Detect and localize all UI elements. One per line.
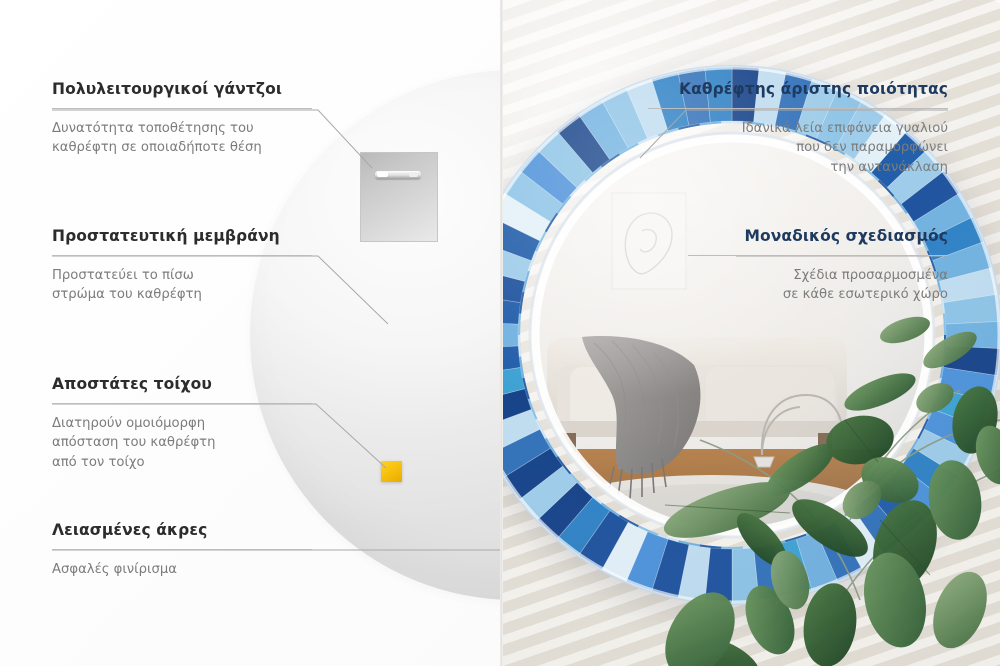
yellow-wall-spacer bbox=[381, 461, 402, 482]
feature-title: Λειασμένες άκρες bbox=[52, 521, 312, 540]
feature-title: Πολυλειτουργικοί γάντζοι bbox=[52, 80, 312, 99]
desc-line: από τον τοίχο bbox=[52, 453, 312, 473]
desc-line: που δεν παραμορφώνει bbox=[648, 138, 948, 158]
feature-title: Καθρέφτης άριστης ποιότητας bbox=[648, 80, 948, 99]
hook-icon bbox=[375, 171, 421, 179]
feature-description: Σχέδια προσαρμοσμένα σε κάθε εσωτερικό χ… bbox=[688, 266, 948, 306]
desc-line: στρώμα του καθρέφτη bbox=[52, 285, 312, 305]
feature-description: Προστατεύει το πίσω στρώμα του καθρέφτη bbox=[52, 266, 312, 306]
desc-line: καθρέφτη σε οποιαδήποτε θέση bbox=[52, 138, 312, 158]
feature-protective-membrane: Προστατευτική μεμβράνη Προστατεύει το πί… bbox=[52, 227, 312, 305]
title-rule bbox=[52, 549, 312, 550]
feature-top-quality-mirror: Καθρέφτης άριστης ποιότητας Ιδανικά λεία… bbox=[648, 80, 948, 178]
half-divider bbox=[500, 0, 503, 666]
desc-line: Δυνατότητα τοποθέτησης του bbox=[52, 119, 312, 139]
feature-description: Διατηρούν ομοιόμορφη απόσταση του καθρέφ… bbox=[52, 414, 312, 473]
wall-hook-plate bbox=[360, 152, 438, 242]
desc-line: την αντανάκλαση bbox=[648, 158, 948, 178]
desc-line: Ασφαλές φινίρισμα bbox=[52, 560, 312, 580]
feature-title: Αποστάτες τοίχου bbox=[52, 375, 312, 394]
desc-line: Προστατεύει το πίσω bbox=[52, 266, 312, 286]
feature-title: Προστατευτική μεμβράνη bbox=[52, 227, 312, 246]
desc-line: Σχέδια προσαρμοσμένα bbox=[688, 266, 948, 286]
feature-title: Μοναδικός σχεδιασμός bbox=[688, 227, 948, 246]
feature-multifunctional-hooks: Πολυλειτουργικοί γάντζοι Δυνατότητα τοπο… bbox=[52, 80, 312, 158]
infographic-stage: Πολυλειτουργικοί γάντζοι Δυνατότητα τοπο… bbox=[0, 0, 1000, 666]
feature-unique-design: Μοναδικός σχεδιασμός Σχέδια προσαρμοσμέν… bbox=[688, 227, 948, 305]
title-rule bbox=[52, 108, 312, 109]
title-rule bbox=[688, 255, 948, 256]
feature-polished-edges: Λειασμένες άκρες Ασφαλές φινίρισμα bbox=[52, 521, 312, 579]
desc-line: Διατηρούν ομοιόμορφη bbox=[52, 414, 312, 434]
desc-line: Ιδανικά λεία επιφάνεια γυαλιού bbox=[648, 119, 948, 139]
feature-description: Ασφαλές φινίρισμα bbox=[52, 560, 312, 580]
title-rule bbox=[648, 108, 948, 109]
desc-line: σε κάθε εσωτερικό χώρο bbox=[688, 285, 948, 305]
title-rule bbox=[52, 255, 312, 256]
feature-wall-spacers: Αποστάτες τοίχου Διατηρούν ομοιόμορφη απ… bbox=[52, 375, 312, 473]
desc-line: απόσταση του καθρέφτη bbox=[52, 433, 312, 453]
title-rule bbox=[52, 403, 312, 404]
feature-description: Δυνατότητα τοποθέτησης του καθρέφτη σε ο… bbox=[52, 119, 312, 159]
feature-description: Ιδανικά λεία επιφάνεια γυαλιού που δεν π… bbox=[648, 119, 948, 178]
